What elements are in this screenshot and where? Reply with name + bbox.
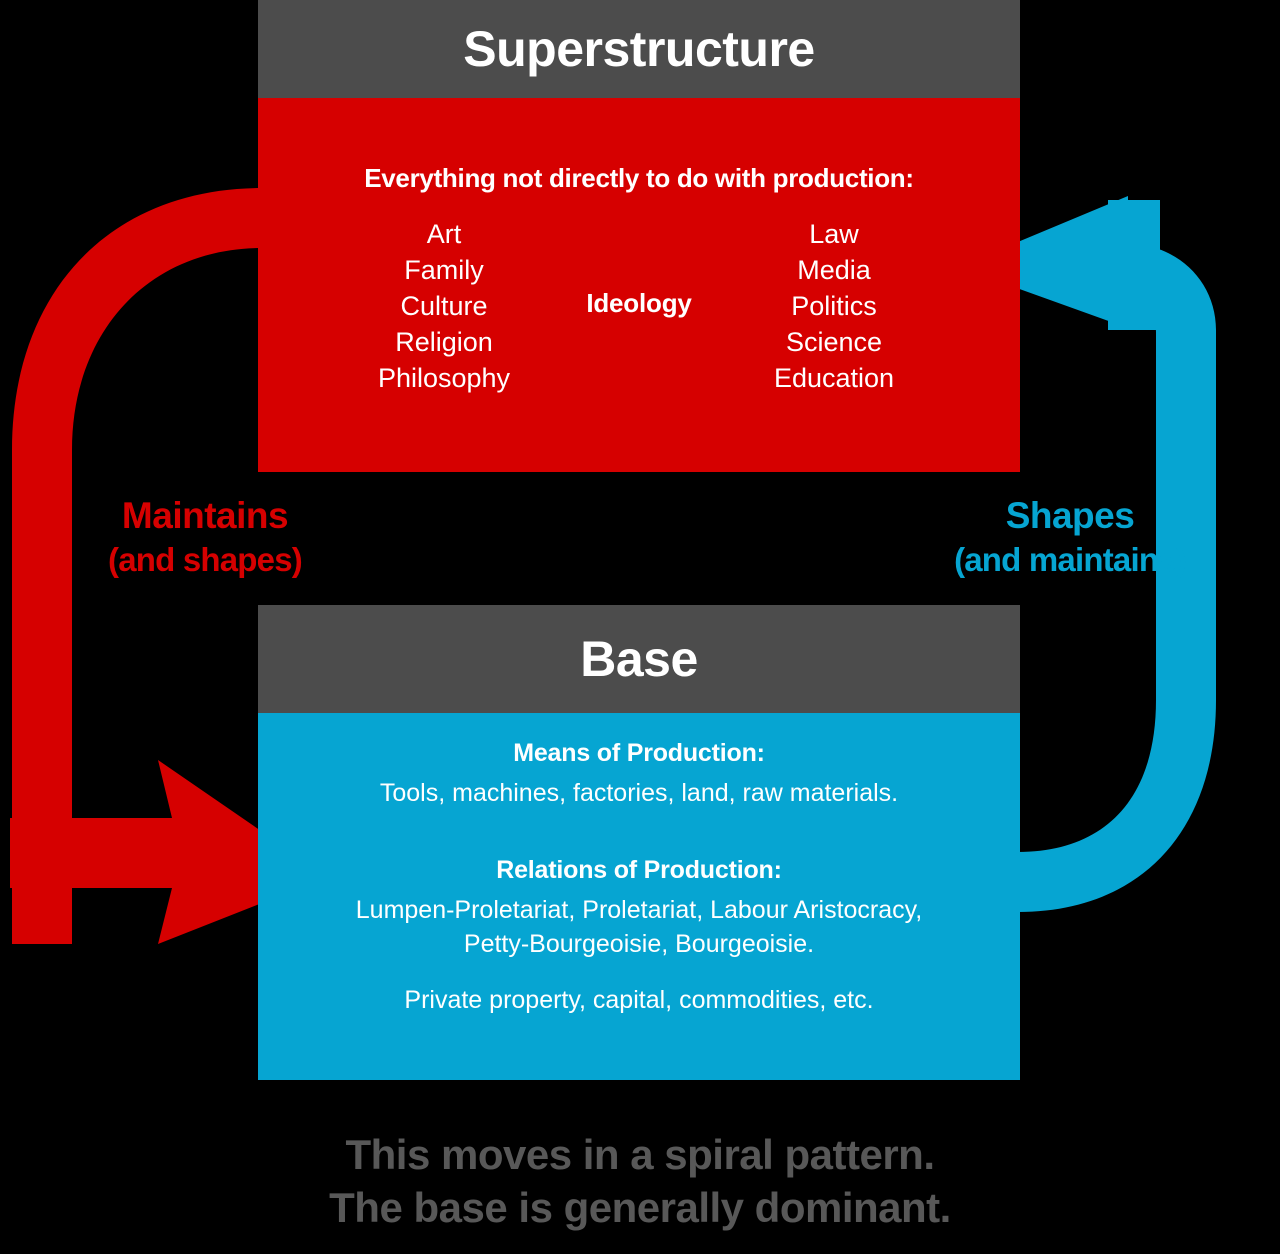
superstructure-columns: Art Family Culture Religion Philosophy I…: [258, 216, 1020, 396]
maintains-label-subtitle: (and shapes): [60, 538, 350, 582]
caption: This moves in a spiral pattern. The base…: [0, 1128, 1280, 1234]
list-item: Politics: [729, 288, 939, 324]
means-of-production-heading: Means of Production:: [258, 739, 1020, 768]
maintains-arrow-body-fill: [12, 760, 72, 944]
relations-of-production-classes: Lumpen-Proletariat, Proletariat, Labour …: [258, 893, 1020, 961]
list-item: Art: [339, 216, 549, 252]
relations-of-production-block: Relations of Production: Lumpen-Proletar…: [258, 856, 1020, 1017]
relations-line: Lumpen-Proletariat, Proletariat, Labour …: [258, 893, 1020, 927]
maintains-label-title: Maintains: [60, 494, 350, 538]
base-title: Base: [580, 630, 698, 688]
caption-line-2: The base is generally dominant.: [0, 1181, 1280, 1234]
superstructure-panel: Superstructure Everything not directly t…: [258, 0, 1020, 472]
superstructure-left-column: Art Family Culture Religion Philosophy: [339, 216, 549, 396]
shapes-label-title: Shapes: [920, 494, 1220, 538]
caption-line-1: This moves in a spiral pattern.: [0, 1128, 1280, 1181]
relations-of-production-heading: Relations of Production:: [258, 856, 1020, 885]
means-of-production-line: Tools, machines, factories, land, raw ma…: [258, 776, 1020, 810]
list-item: Media: [729, 252, 939, 288]
list-item: Science: [729, 324, 939, 360]
shapes-arrow-head-fill: [1108, 200, 1160, 330]
shapes-label-subtitle: (and maintains): [920, 538, 1220, 582]
shapes-arrow-label: Shapes (and maintains): [920, 494, 1220, 582]
superstructure-subtitle: Everything not directly to do with produ…: [258, 98, 1020, 194]
maintains-arrow-label: Maintains (and shapes): [60, 494, 350, 582]
list-item: Education: [729, 360, 939, 396]
ideology-label: Ideology: [549, 288, 729, 319]
list-item: Philosophy: [339, 360, 549, 396]
list-item: Culture: [339, 288, 549, 324]
diagram-canvas: Superstructure Everything not directly t…: [0, 0, 1280, 1254]
list-item: Religion: [339, 324, 549, 360]
means-of-production-block: Means of Production: Tools, machines, fa…: [258, 739, 1020, 810]
relations-line: Petty-Bourgeoisie, Bourgeoisie.: [258, 927, 1020, 961]
base-body: Means of Production: Tools, machines, fa…: [258, 713, 1020, 1080]
relations-line: Private property, capital, commodities, …: [258, 983, 1020, 1017]
superstructure-center-column: Ideology: [549, 216, 729, 319]
list-item: Family: [339, 252, 549, 288]
superstructure-body: Everything not directly to do with produ…: [258, 98, 1020, 472]
base-header: Base: [258, 605, 1020, 713]
superstructure-right-column: Law Media Politics Science Education: [729, 216, 939, 396]
superstructure-header: Superstructure: [258, 0, 1020, 98]
list-item: Law: [729, 216, 939, 252]
base-panel: Base Means of Production: Tools, machine…: [258, 605, 1020, 1080]
superstructure-title: Superstructure: [463, 20, 814, 78]
